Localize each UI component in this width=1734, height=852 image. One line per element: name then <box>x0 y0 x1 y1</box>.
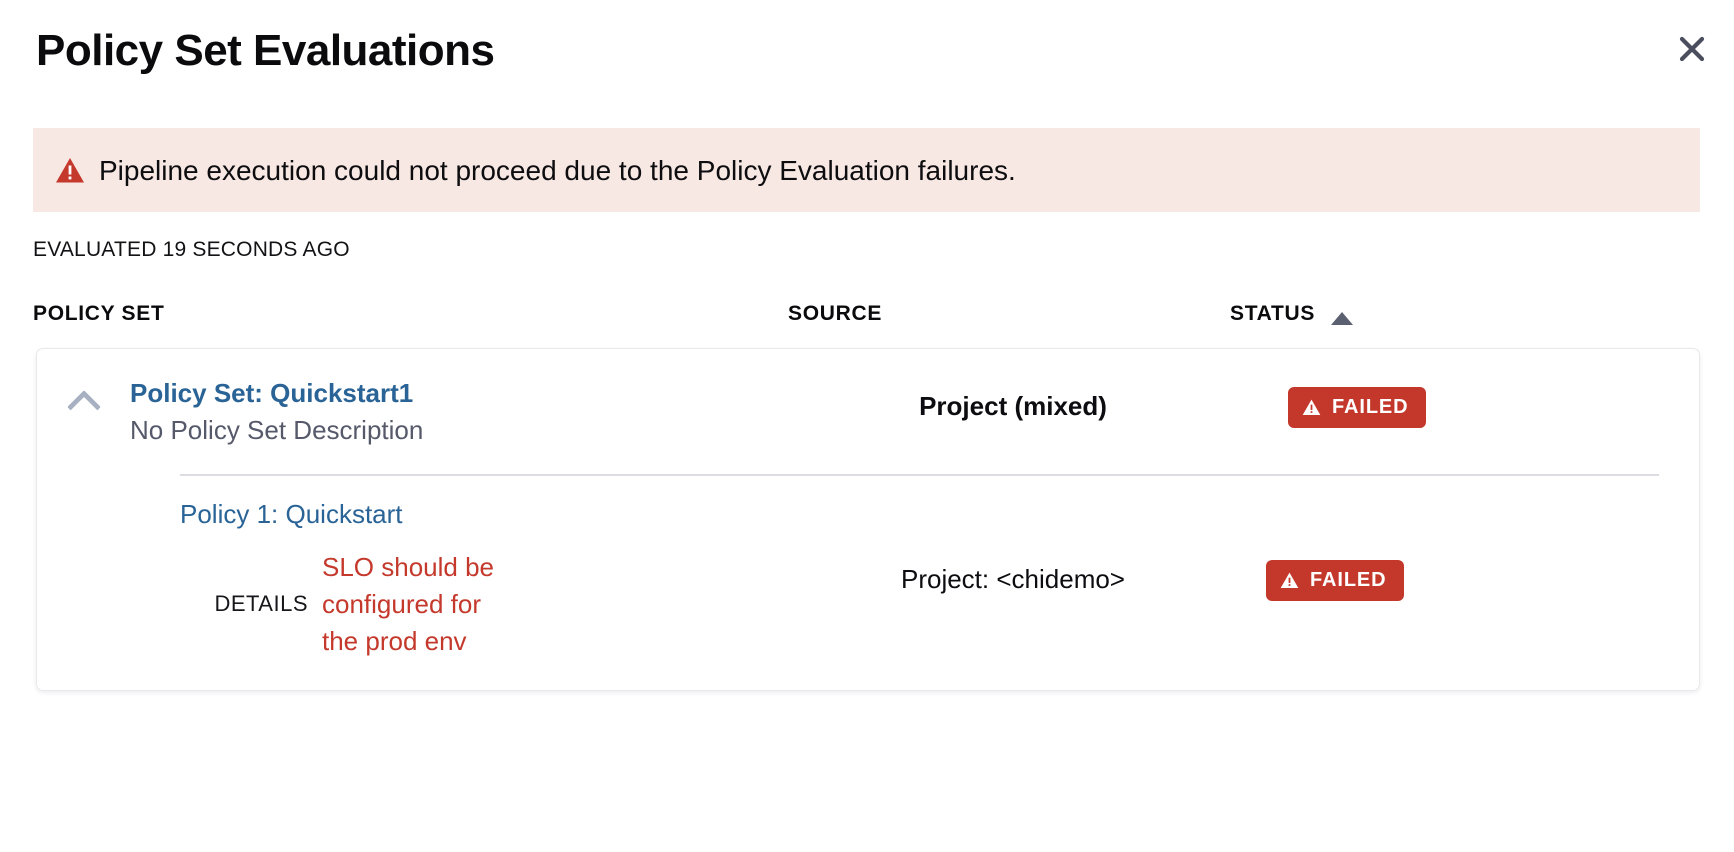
policy-set-status: FAILED <box>1234 377 1679 428</box>
chevron-up-icon[interactable] <box>37 377 130 407</box>
details-label: DETAILS <box>180 591 308 617</box>
column-header-policy-set-label: POLICY SET <box>33 302 164 326</box>
policy-source: Project: <chidemo> <box>792 498 1234 595</box>
page-title: Policy Set Evaluations <box>36 26 1698 77</box>
modal-header: Policy Set Evaluations <box>0 0 1734 110</box>
evaluated-timestamp: EVALUATED 19 SECONDS AGO <box>33 238 1734 262</box>
policy-set-source: Project (mixed) <box>792 377 1234 422</box>
alert-message: Pipeline execution could not proceed due… <box>99 153 1016 188</box>
error-alert-banner: Pipeline execution could not proceed due… <box>33 128 1700 212</box>
table-row: Policy Set: Quickstart1 No Policy Set De… <box>37 349 1699 474</box>
status-badge: FAILED <box>1266 560 1404 601</box>
status-badge: FAILED <box>1288 387 1426 428</box>
warning-triangle-icon <box>1302 399 1321 416</box>
column-header-policy-set[interactable]: POLICY SET <box>33 302 788 326</box>
details-value: SLO should be configured for the prod en… <box>322 549 507 660</box>
policy-details: DETAILS SLO should be configured for the… <box>180 549 792 660</box>
close-icon-glyph <box>1678 35 1706 63</box>
policy-cell: Policy 1: Quickstart DETAILS SLO should … <box>37 498 792 660</box>
policy-set-description: No Policy Set Description <box>130 414 792 448</box>
policy-status: FAILED <box>1234 498 1679 601</box>
policy-set-cell: Policy Set: Quickstart1 No Policy Set De… <box>130 377 792 448</box>
column-header-source[interactable]: SOURCE <box>788 302 1230 326</box>
chevron-up-icon-glyph <box>69 389 99 407</box>
policy-set-link[interactable]: Policy Set: Quickstart1 <box>130 377 413 410</box>
column-header-source-label: SOURCE <box>788 302 882 326</box>
table-header-row: POLICY SET SOURCE STATUS <box>0 284 1734 326</box>
policy-link[interactable]: Policy 1: Quickstart <box>180 498 403 532</box>
close-icon[interactable] <box>1670 27 1714 71</box>
warning-triangle-icon-glyph <box>55 157 85 184</box>
column-header-status-label: STATUS <box>1230 302 1315 326</box>
column-header-status[interactable]: STATUS <box>1230 302 1698 326</box>
table-row: Policy 1: Quickstart DETAILS SLO should … <box>37 476 1699 690</box>
policy-set-card: Policy Set: Quickstart1 No Policy Set De… <box>36 348 1700 691</box>
sort-ascending-triangle-icon[interactable] <box>1331 312 1353 325</box>
warning-triangle-icon <box>1280 572 1299 589</box>
policy-evaluations-table: POLICY SET SOURCE STATUS Policy Set: Qui… <box>0 284 1734 691</box>
status-badge-label: FAILED <box>1332 396 1409 419</box>
status-badge-label: FAILED <box>1310 569 1387 592</box>
warning-triangle-icon <box>55 157 85 184</box>
